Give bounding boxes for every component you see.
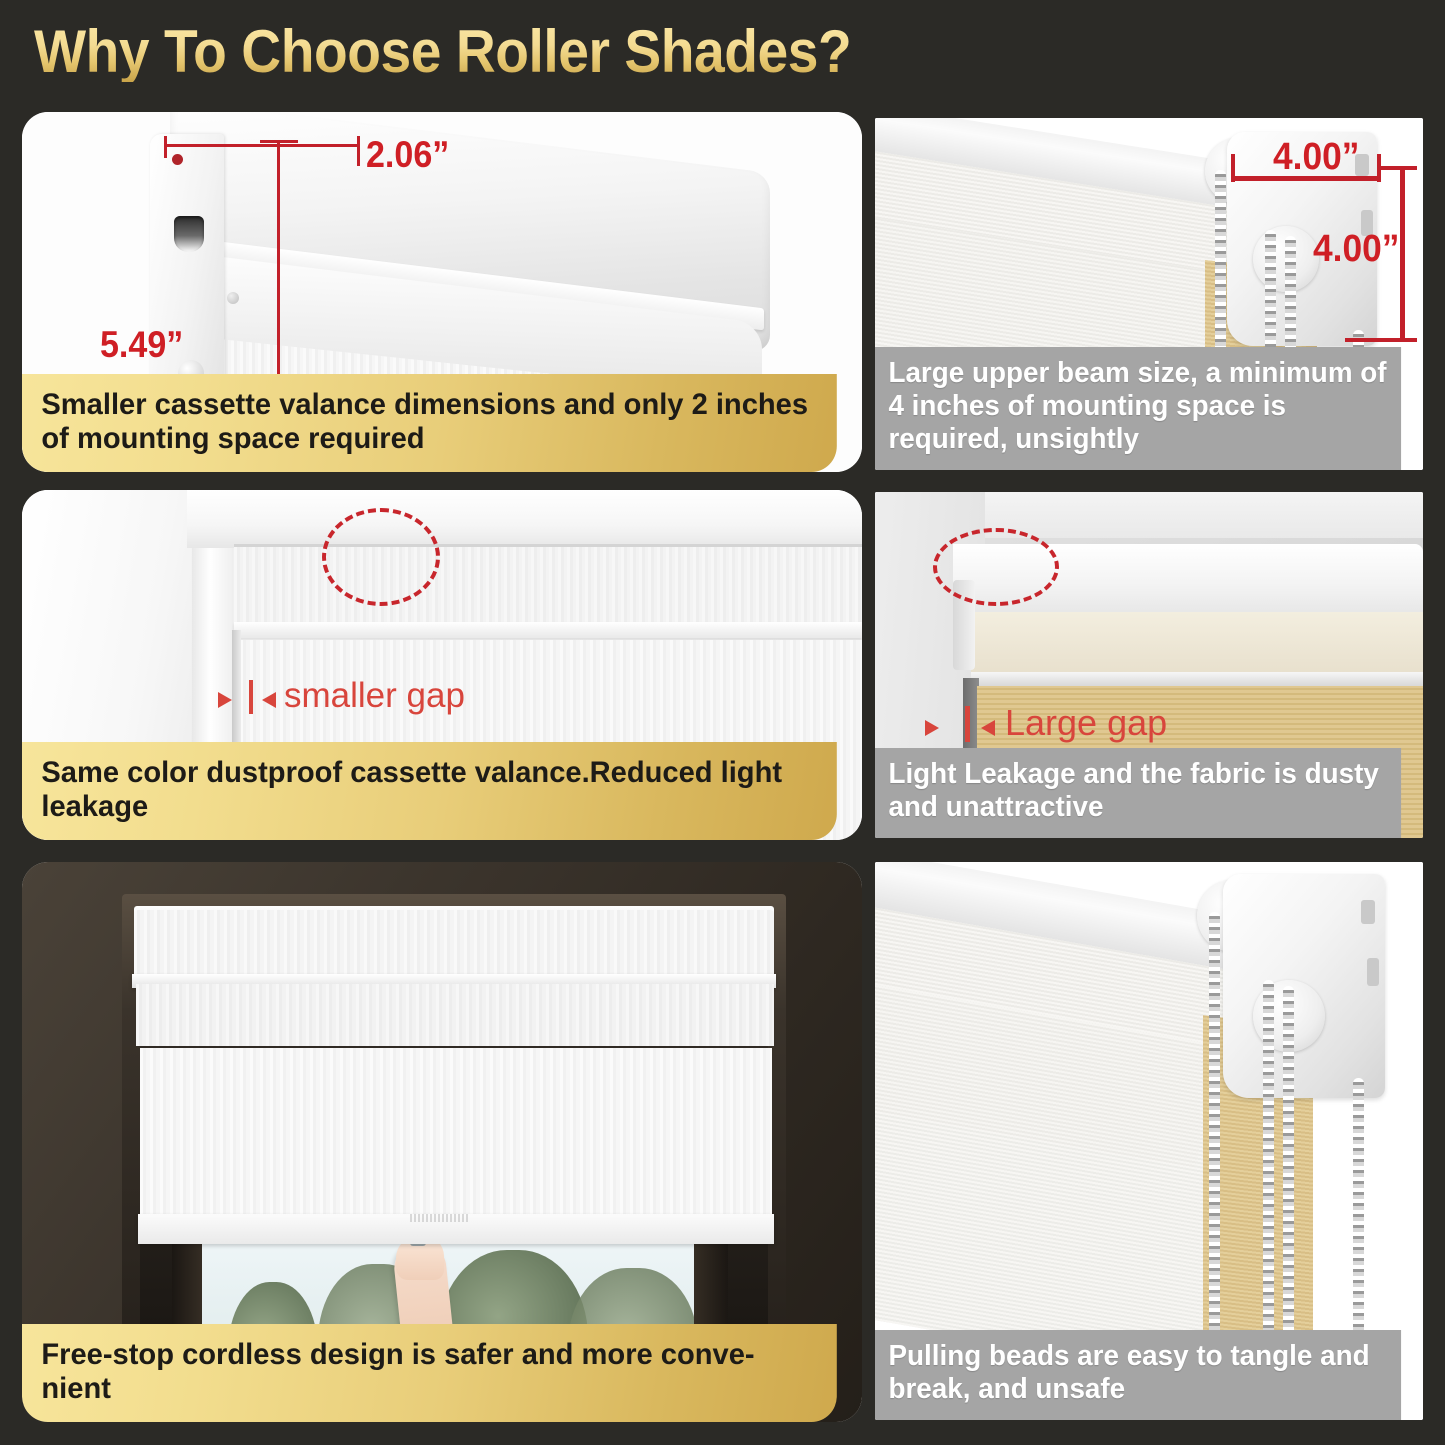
gap-marker-line: [249, 680, 253, 714]
bracket-slot-bottom: [1367, 958, 1379, 986]
panel-3-caption: Same color dustproof cassette valance.Re…: [22, 742, 837, 840]
cassette-lip: [234, 622, 862, 638]
brand-logo: [410, 1214, 470, 1222]
beam-height-tick-bottom: [1345, 338, 1417, 342]
height-dimension-label: 5.49”: [100, 324, 183, 366]
bracket-slot-top: [1361, 900, 1375, 924]
cassette-valance: [134, 910, 774, 978]
beam-height-dimension-line: [1400, 168, 1405, 342]
window-header: [187, 490, 862, 548]
gap-arrow-left: [218, 692, 232, 708]
page-title: Why To Choose Roller Shades?: [34, 22, 851, 82]
gap-arrow-right: [262, 692, 276, 708]
gap-highlight-ellipse: [322, 508, 440, 606]
bead-chain-2: [1263, 980, 1274, 1352]
panel-1-caption: Smaller cassette valance dimensions and …: [22, 374, 837, 472]
bead-chain-4: [1353, 1078, 1364, 1352]
beam-width-dimension-label: 4.00”: [1273, 136, 1359, 179]
panel-5: Free-stop cordless design is safer and m…: [22, 862, 862, 1422]
valance-slot: [174, 216, 204, 252]
beam-height-tick-top: [1381, 166, 1417, 170]
bead-chain-1: [1209, 912, 1220, 1352]
shade-fabric: [140, 1048, 772, 1238]
beam-band: [971, 612, 1423, 674]
panel-6-caption: Pulling beads are easy to tangle and bre…: [875, 1330, 1401, 1420]
beam-edge: [971, 672, 1423, 686]
height-dimension-tick-top: [260, 140, 298, 143]
panel-4-caption: Light Leakage and the fabric is dusty an…: [875, 748, 1401, 838]
beam-width-tick-left: [1231, 154, 1235, 182]
panel-6: Pulling beads are easy to tangle and bre…: [875, 862, 1423, 1420]
valance-screw-upper: [227, 292, 239, 304]
width-dimension-label: 2.06”: [366, 134, 449, 176]
bead-chain-3: [1283, 986, 1294, 1352]
dimension-anchor-dot: [172, 154, 183, 165]
width-dimension-tick-right: [357, 136, 360, 166]
panel-5-caption: Free-stop cordless design is safer and m…: [22, 1324, 837, 1422]
beam-height-dimension-label: 4.00”: [1313, 228, 1399, 271]
width-dimension-tick-left: [164, 136, 167, 158]
panel-1: 2.06” 5.49” Smaller cassette valance dim…: [22, 112, 862, 472]
cassette-lower: [136, 984, 774, 1046]
gap-callout-label: Large gap: [1005, 702, 1167, 744]
infographic-page: Why To Choose Roller Shades? 2.06” 5.49”: [0, 0, 1445, 1445]
width-dimension-line: [164, 144, 360, 147]
gap-arrow-right: [981, 720, 995, 736]
panel-4: Large gap Light Leakage and the fabric i…: [875, 492, 1423, 838]
panel-3: smaller gap Same color dustproof cassett…: [22, 490, 862, 840]
gap-arrow-left: [925, 720, 939, 736]
panel-2: 4.00” 4.00” Large upper beam size, a min…: [875, 118, 1423, 470]
gap-marker-line: [965, 706, 970, 742]
gap-callout-label: smaller gap: [284, 676, 465, 716]
white-fabric-lower: [875, 983, 1255, 1377]
panel-2-caption: Large upper beam size, a minimum of 4 in…: [875, 347, 1401, 470]
gap-highlight-ellipse: [933, 528, 1059, 606]
